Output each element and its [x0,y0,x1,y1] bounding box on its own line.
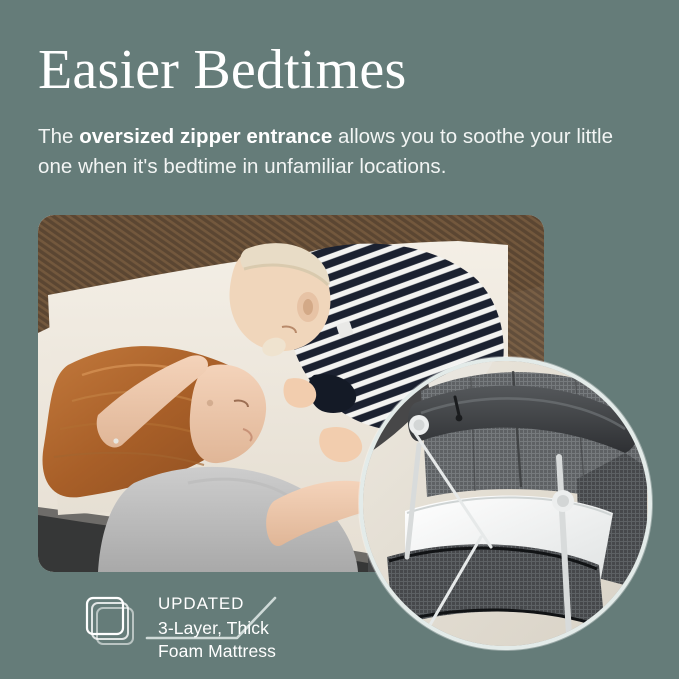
badge-line-2: Foam Mattress [158,640,276,664]
page-title: Easier Bedtimes [38,41,638,99]
product-feature-card: Easier Bedtimes The oversized zipper ent… [0,0,679,679]
stacked-layers-icon [84,595,142,653]
inset-photo-travel-crib [359,357,652,650]
subhead-emphasis: oversized zipper entrance [79,125,332,148]
updated-mattress-badge: UPDATED 3-Layer, Thick Foam Mattress [84,592,276,664]
badge-kicker: UPDATED [158,594,276,614]
subhead-text-lead: The [38,125,79,148]
badge-line-1: 3-Layer, Thick [158,617,276,641]
subheadline: The oversized zipper entrance allows you… [38,122,653,182]
